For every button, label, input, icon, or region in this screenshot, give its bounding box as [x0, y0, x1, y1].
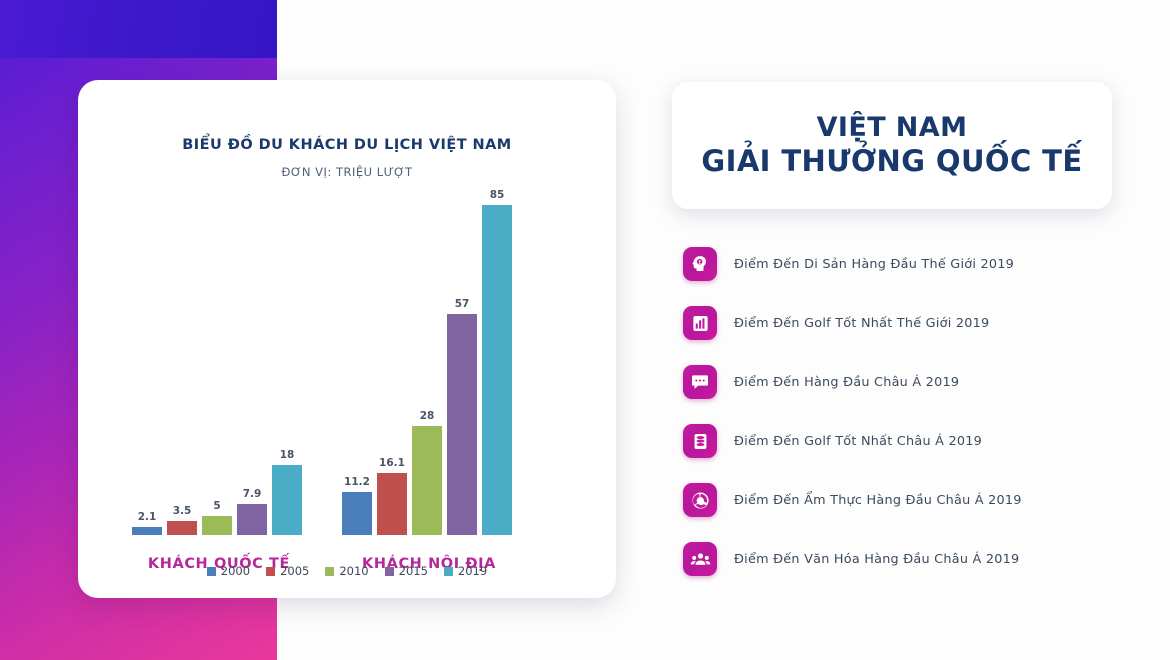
award-list-item[interactable]: Điểm Đến Văn Hóa Hàng Đầu Châu Á 2019: [683, 542, 1113, 576]
bar-value-label: 11.2: [344, 476, 370, 488]
bar-rect-2005: [377, 473, 407, 536]
database-icon: [683, 424, 717, 458]
bar-value-label: 28: [420, 410, 435, 422]
award-list-item[interactable]: Điểm Đến Golf Tốt Nhất Châu Á 2019: [683, 424, 1113, 458]
chat-bubble-icon: [683, 365, 717, 399]
award-list-item[interactable]: Điểm Đến Ẩm Thực Hàng Đầu Châu Á 2019: [683, 483, 1113, 517]
bar-rect-2000: [342, 492, 372, 535]
award-item-label: Điểm Đến Golf Tốt Nhất Châu Á 2019: [734, 434, 982, 449]
awards-list: Điểm Đến Di Sản Hàng Đầu Thế Giới 2019 Đ…: [683, 247, 1113, 601]
bar-rect-2010: [202, 516, 232, 535]
band-top-block: [0, 0, 277, 58]
head-pin-icon: [683, 247, 717, 281]
recycle-icon: [683, 483, 717, 517]
bar-value-label: 7.9: [243, 488, 262, 500]
bar-value-label: 2.1: [138, 511, 157, 523]
bar-rect-2019: [272, 465, 302, 535]
bar-group-international: 2.1 3.5 5 7.9: [124, 190, 314, 590]
bar-rect-2015: [237, 504, 267, 535]
bar-rect-2005: [167, 521, 197, 535]
legend-item: 2000: [207, 564, 250, 578]
award-list-item[interactable]: Điểm Đến Hàng Đầu Châu Á 2019: [683, 365, 1113, 399]
bar-value-label: 57: [455, 298, 470, 310]
award-item-label: Điểm Đến Golf Tốt Nhất Thế Giới 2019: [734, 316, 989, 331]
legend-item: 2019: [444, 564, 487, 578]
slide-canvas: BIỂU ĐỒ DU KHÁCH DU LỊCH VIỆT NAM ĐƠN VỊ…: [0, 0, 1170, 660]
bar-value-label: 5: [213, 500, 220, 512]
bar-chart-icon: [683, 306, 717, 340]
award-item-label: Điểm Đến Di Sản Hàng Đầu Thế Giới 2019: [734, 257, 1014, 272]
award-item-label: Điểm Đến Ẩm Thực Hàng Đầu Châu Á 2019: [734, 493, 1022, 508]
award-list-item[interactable]: Điểm Đến Golf Tốt Nhất Thế Giới 2019: [683, 306, 1113, 340]
bar-rect-2015: [447, 314, 477, 535]
legend-swatch-icon: [266, 567, 275, 576]
bar-value-label: 85: [490, 189, 505, 201]
legend-swatch-icon: [325, 567, 334, 576]
chart-subtitle: ĐƠN VỊ: TRIỆU LƯỢT: [78, 165, 616, 179]
bar-rect-2000: [132, 527, 162, 535]
legend-swatch-icon: [444, 567, 453, 576]
bar-value-label: 16.1: [379, 457, 405, 469]
legend-label: 2015: [399, 564, 428, 578]
award-item-label: Điểm Đến Văn Hóa Hàng Đầu Châu Á 2019: [734, 552, 1019, 567]
bar-rect-2010: [412, 426, 442, 535]
legend-label: 2005: [280, 564, 309, 578]
legend-item: 2015: [385, 564, 428, 578]
legend-label: 2000: [221, 564, 250, 578]
awards-heading-line-2: GIẢI THƯỞNG QUỐC TẾ: [701, 144, 1082, 178]
bar-value-label: 18: [280, 449, 295, 461]
legend-label: 2019: [458, 564, 487, 578]
legend-label: 2010: [339, 564, 368, 578]
chart-legend: 2000 2005 2010 2015 2019: [78, 564, 616, 578]
awards-heading-line-1: VIỆT NAM: [817, 112, 968, 144]
legend-swatch-icon: [385, 567, 394, 576]
chart-card: BIỂU ĐỒ DU KHÁCH DU LỊCH VIỆT NAM ĐƠN VỊ…: [78, 80, 616, 598]
bar-group-bars: 2.1 3.5 5 7.9: [124, 205, 314, 535]
award-list-item[interactable]: Điểm Đến Di Sản Hàng Đầu Thế Giới 2019: [683, 247, 1113, 281]
chart-title: BIỂU ĐỒ DU KHÁCH DU LỊCH VIỆT NAM: [78, 137, 616, 153]
award-item-label: Điểm Đến Hàng Đầu Châu Á 2019: [734, 375, 959, 390]
people-group-icon: [683, 542, 717, 576]
bar-group-bars: 11.2 16.1 28 57: [334, 205, 524, 535]
bar-value-label: 3.5: [173, 505, 192, 517]
legend-item: 2010: [325, 564, 368, 578]
bar-chart-plot: 2.1 3.5 5 7.9: [112, 190, 582, 590]
awards-heading-card: VIỆT NAM GIẢI THƯỞNG QUỐC TẾ: [672, 82, 1112, 209]
legend-swatch-icon: [207, 567, 216, 576]
bar-group-domestic: 11.2 16.1 28 57: [334, 190, 524, 590]
legend-item: 2005: [266, 564, 309, 578]
bar-rect-2019: [482, 205, 512, 535]
